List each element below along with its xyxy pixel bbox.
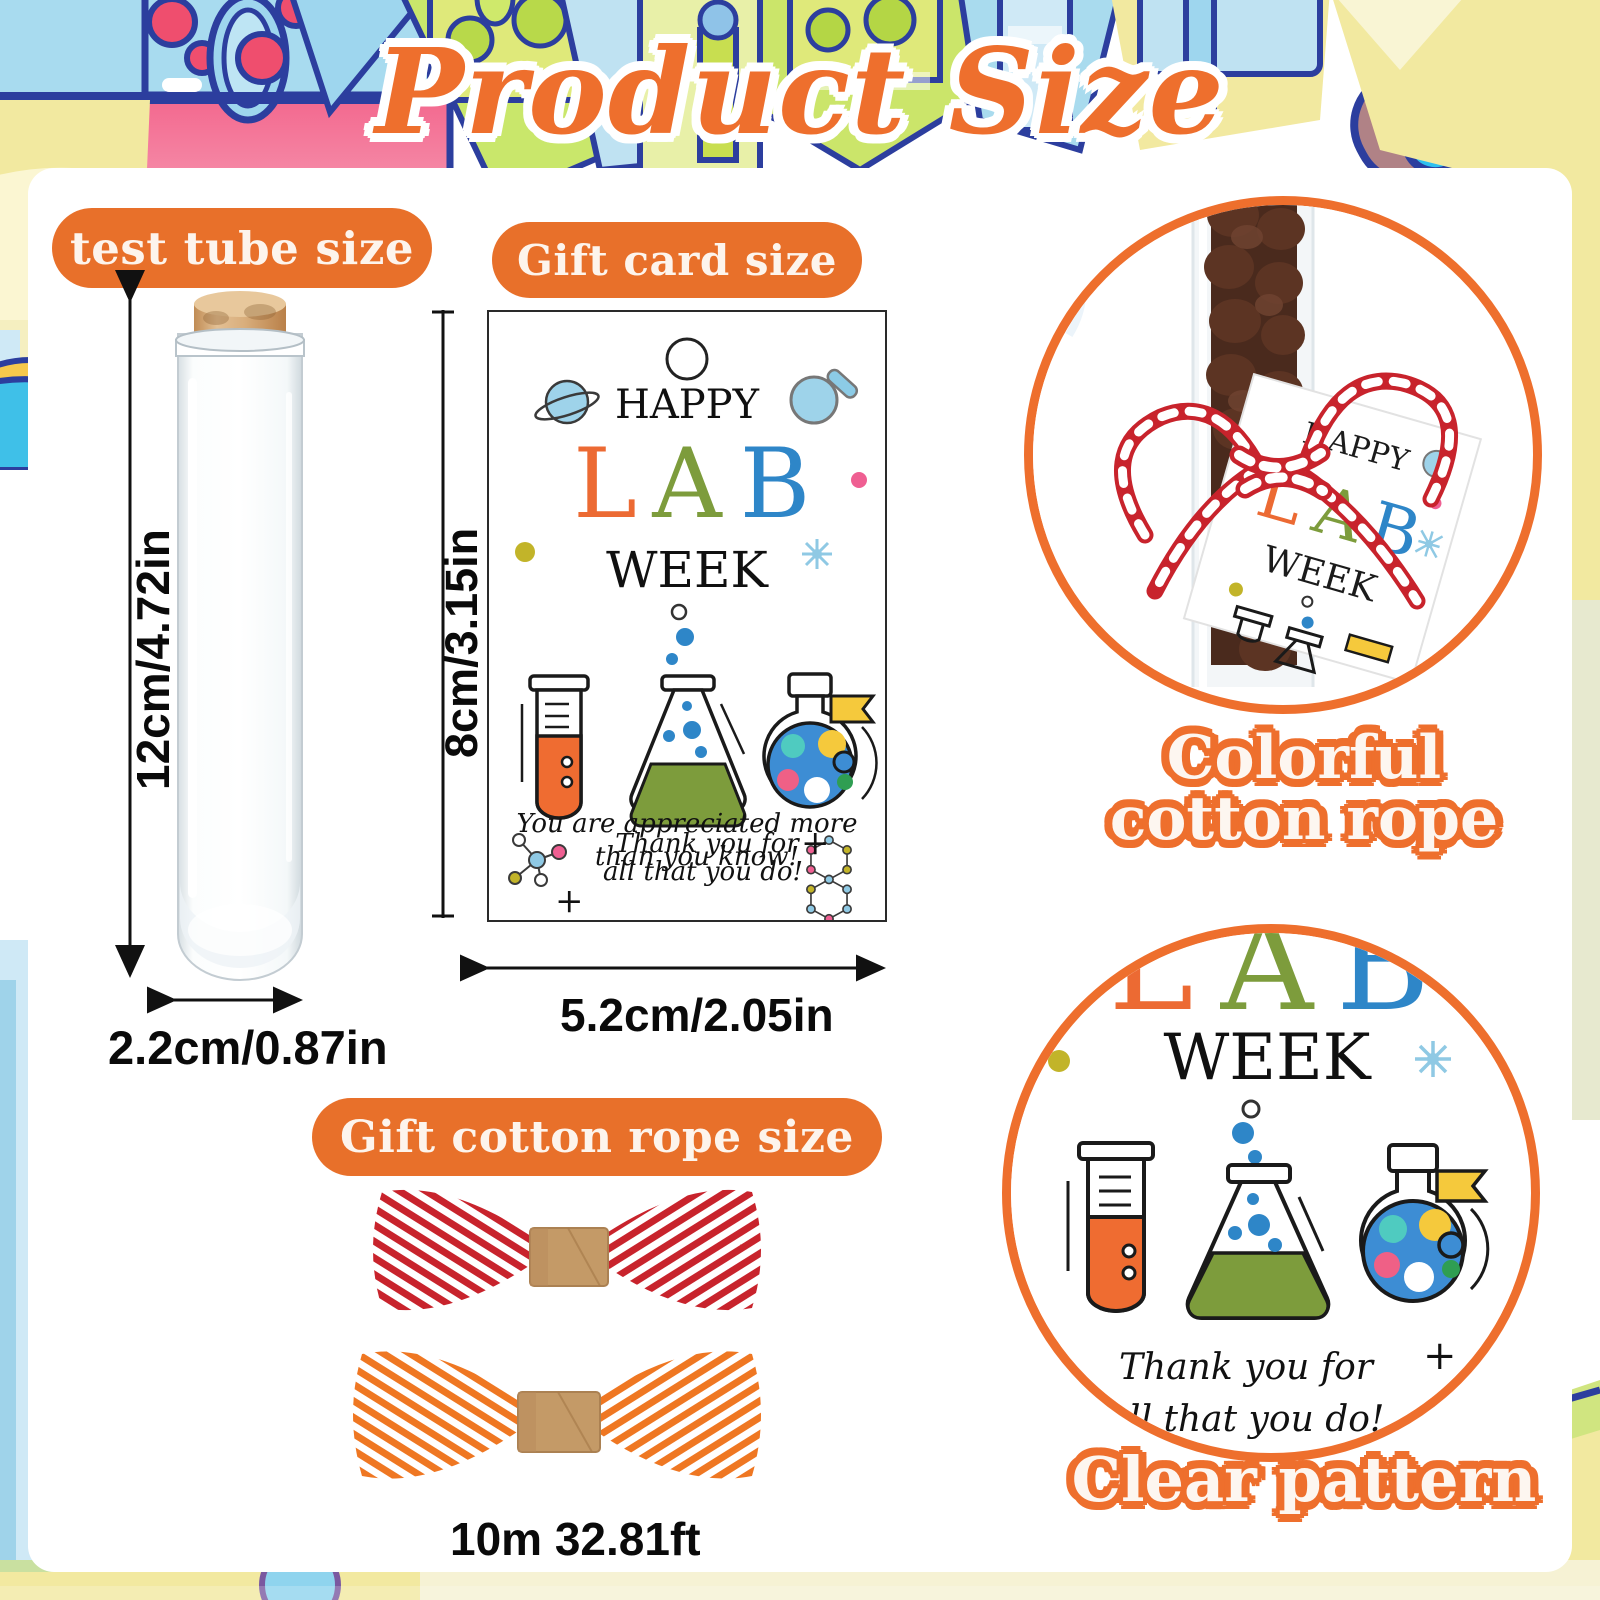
card-letter-a: A xyxy=(651,428,723,540)
card-greeting: HAPPY xyxy=(615,382,760,428)
card-week: WEEK xyxy=(606,541,769,599)
dot-olive xyxy=(515,542,535,562)
inset2-atom xyxy=(1415,1041,1451,1077)
plus-1: + xyxy=(801,823,830,863)
card-msg-2: all that you do! xyxy=(603,857,803,887)
punch-hole-icon xyxy=(667,339,707,379)
gift-card-artwork: HAPPY L A B WEEK xyxy=(489,312,885,920)
round-flask-icon xyxy=(764,674,876,807)
gift-card-height-label: 8cm/3.15in xyxy=(436,528,488,758)
label-test-tube-size: test tube size xyxy=(52,208,432,288)
test-tube-photo xyxy=(168,282,312,982)
feature-inset-clear-pattern: L A B WEEK xyxy=(1002,924,1540,1462)
atom-icon xyxy=(802,539,832,569)
inset2-plus: + xyxy=(1423,1333,1457,1379)
card-msg-1: Thank you for xyxy=(615,829,800,859)
card-letter-l: L xyxy=(573,428,637,540)
caption-rope-line2: cotton rope xyxy=(1004,789,1600,850)
erlenmeyer-flask-icon xyxy=(631,676,745,826)
magnifier-icon xyxy=(791,368,859,423)
dot-pink xyxy=(851,472,867,488)
page-title: Product Size xyxy=(0,22,1600,161)
feature-inset-colorful-cotton-rope: HAPPY L A B WEEK xyxy=(1024,196,1542,714)
test-tube-width-label: 2.2cm/0.87in xyxy=(108,1020,388,1075)
bubble-2 xyxy=(676,628,694,646)
gift-card-width-label: 5.2cm/2.05in xyxy=(560,988,834,1042)
test-tube-icon xyxy=(522,676,588,818)
test-tube-height-label: 12cm/4.72in xyxy=(126,529,180,790)
orange-white-twine-bundle xyxy=(352,1338,762,1488)
rope-length-label: 10m 32.81ft xyxy=(450,1512,701,1566)
inset2-week: WEEK xyxy=(1163,1021,1371,1095)
infographic-root: Product Size test tube size Gift card si… xyxy=(0,0,1600,1600)
gift-card-image: HAPPY L A B WEEK xyxy=(487,310,887,922)
caption-pattern-line1: Clear pattern xyxy=(1004,1448,1600,1511)
label-gift-cotton-rope-size: Gift cotton rope size xyxy=(312,1098,882,1176)
bubble-3 xyxy=(666,653,678,665)
saturn-planet-icon xyxy=(533,381,601,425)
molecule-icon xyxy=(509,834,566,886)
caption-rope-line1: Colorful xyxy=(1004,728,1600,789)
card-letter-b: B xyxy=(740,428,811,540)
caption-clear-pattern: Clear pattern xyxy=(1004,1448,1600,1511)
bubble-1 xyxy=(672,605,686,619)
plus-2: + xyxy=(555,881,584,920)
red-white-twine-bundle xyxy=(372,1178,762,1318)
label-gift-card-size: Gift card size xyxy=(492,222,862,298)
caption-colorful-cotton-rope: Colorful cotton rope xyxy=(1004,728,1600,850)
